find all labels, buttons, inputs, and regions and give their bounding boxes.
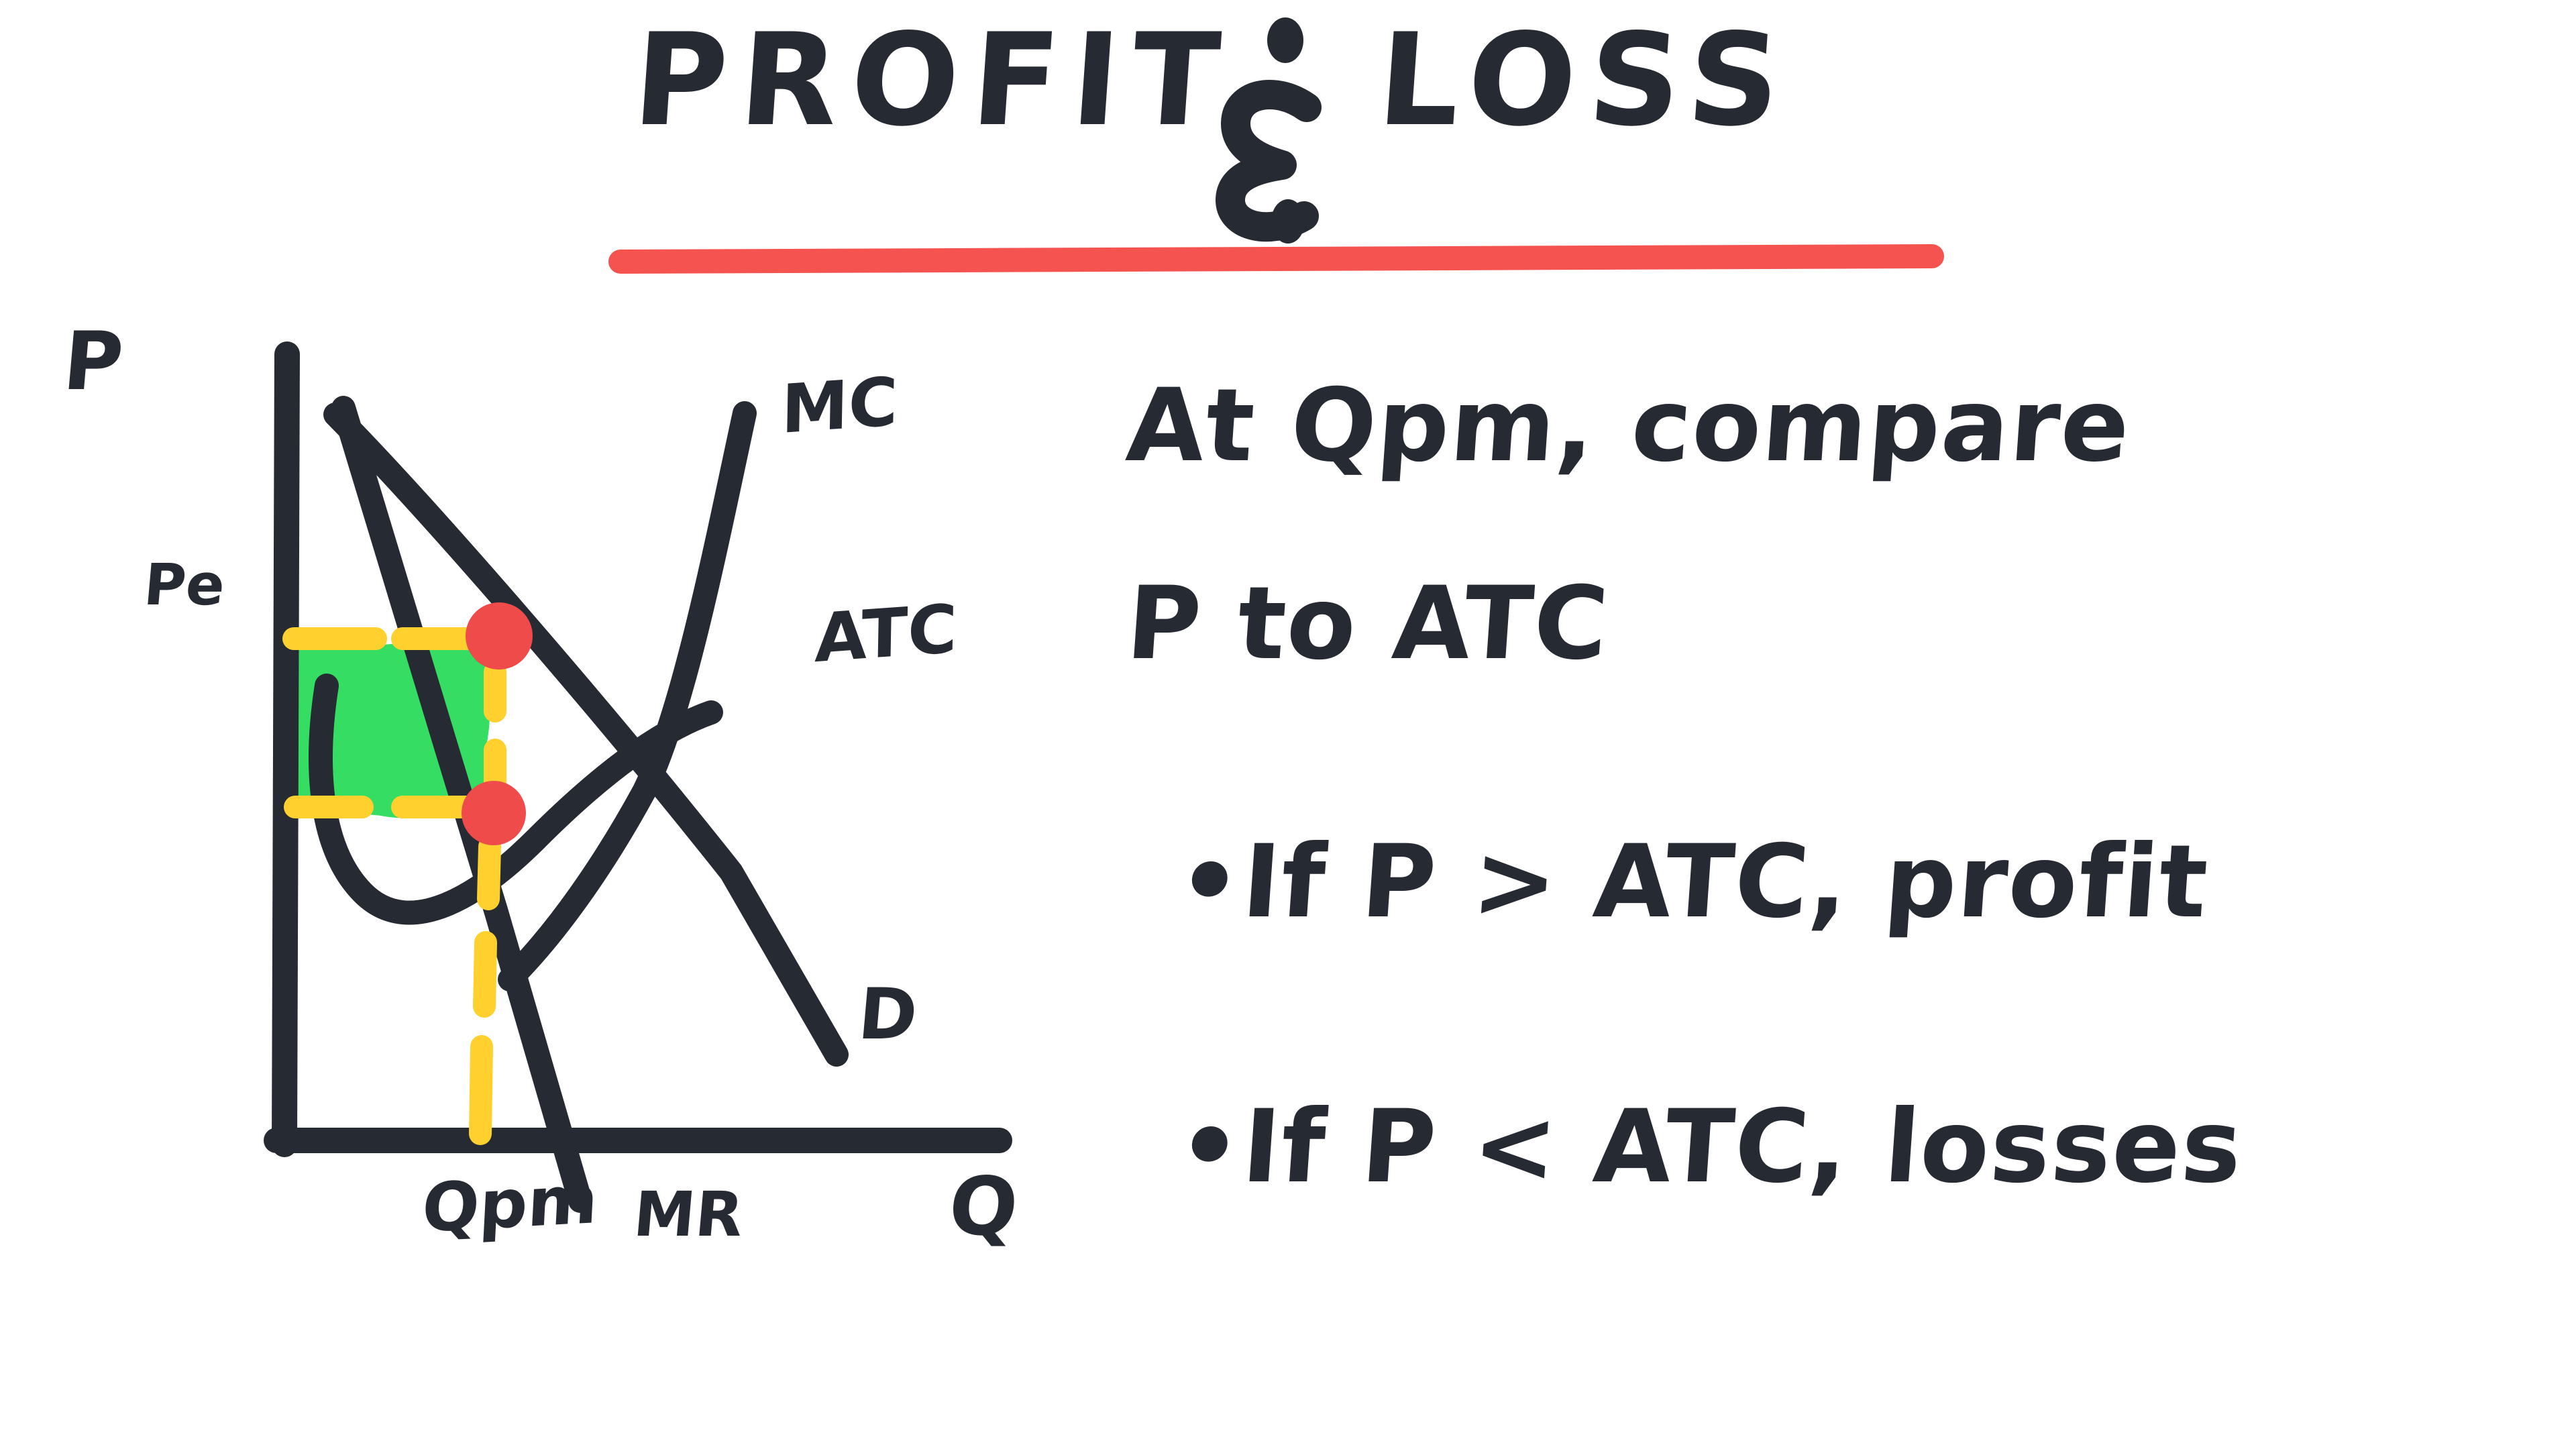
notes-heading-line-1: At Qpm, compare — [1124, 376, 2134, 476]
marginal-cost-curve — [510, 413, 745, 979]
curve-label-atc: ATC — [814, 596, 958, 672]
bullet-marker-icon-2: • — [1173, 1089, 1247, 1205]
curve-label-mr: MR — [631, 1184, 745, 1246]
y-axis-label: P — [60, 322, 126, 402]
notes-heading-line-2: P to ATC — [1124, 574, 1612, 674]
atc-point-dot — [462, 781, 526, 845]
bullet-marker-icon: • — [1173, 824, 1247, 941]
notes-bullet-2: •If P < ATC, losses — [1174, 1097, 2246, 1197]
whiteboard-canvas: PROFIT LOSS — [0, 0, 2576, 1449]
curve-label-mc: MC — [781, 368, 898, 443]
notes-bullet-2-text: If P < ATC, losses — [1238, 1089, 2247, 1205]
profit-loss-graph — [0, 0, 2576, 1449]
notes-bullet-1: •If P > ATC, profit — [1174, 832, 2212, 932]
quantity-level-label: Qpm — [421, 1166, 600, 1242]
price-point-dot — [466, 602, 533, 669]
notes-bullet-1-text: If P > ATC, profit — [1238, 824, 2212, 941]
curve-label-demand: D — [855, 979, 920, 1050]
price-level-label: Pe — [142, 557, 227, 614]
x-axis-label: Q — [946, 1167, 1022, 1248]
